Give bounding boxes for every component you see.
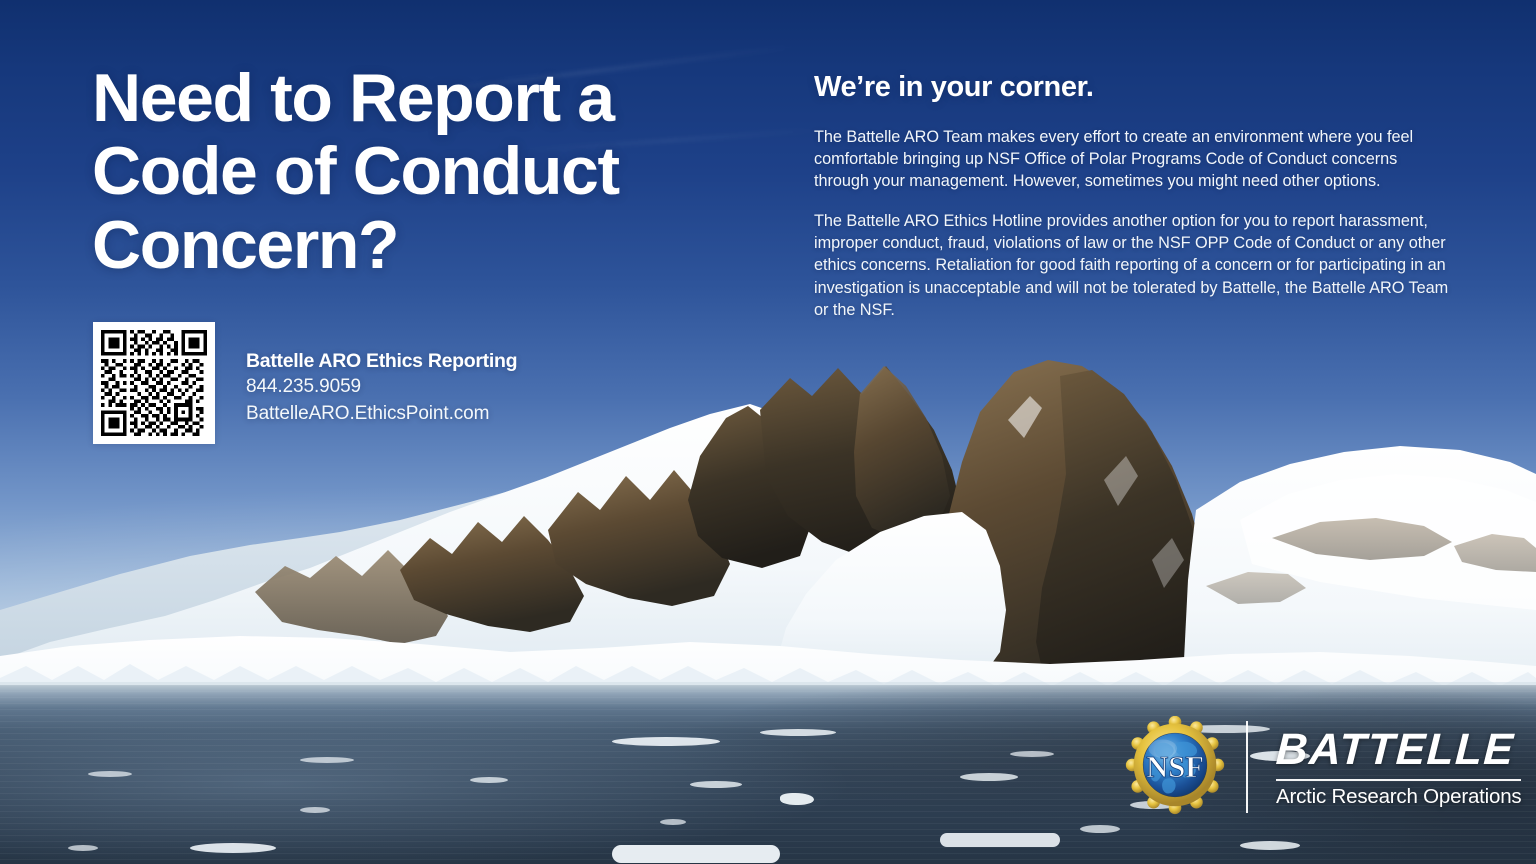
contact-phone[interactable]: 844.235.9059 — [246, 374, 517, 400]
ice-floe — [960, 773, 1018, 781]
ice-floe — [88, 771, 132, 777]
ice-floe — [1240, 841, 1300, 850]
ice-floe — [1010, 751, 1054, 757]
logo-divider — [1246, 721, 1248, 813]
ice-floe — [1080, 825, 1120, 833]
contact-block: Battelle ARO Ethics Reporting 844.235.90… — [93, 322, 517, 444]
battelle-rule — [1276, 779, 1521, 781]
contact-details: Battelle ARO Ethics Reporting 844.235.90… — [246, 322, 517, 427]
qr-code[interactable] — [93, 322, 215, 444]
ice-floe — [660, 819, 686, 825]
headline-line-3: Concern? — [92, 207, 398, 283]
ice-floe — [190, 843, 276, 853]
ice-floe — [760, 729, 836, 736]
nsf-logo-icon: NSF — [1124, 716, 1226, 818]
subheading: We’re in your corner. — [814, 70, 1454, 105]
ice-floe — [300, 757, 354, 763]
ice-floe — [612, 845, 780, 863]
battelle-wordmark: BATTELLE — [1275, 728, 1523, 772]
poster: Need to Report a Code of Conduct Concern… — [0, 0, 1536, 864]
paragraph-1: The Battelle ARO Team makes every effort… — [814, 126, 1454, 193]
headline-line-1: Need to Report a — [92, 60, 614, 136]
body-copy-column: We’re in your corner. The Battelle ARO T… — [814, 70, 1454, 321]
ice-floe — [300, 807, 330, 813]
ice-floe — [940, 833, 1060, 847]
contact-website[interactable]: BattelleARO.EthicsPoint.com — [246, 401, 517, 427]
ice-floe — [470, 777, 508, 783]
logo-lockup: NSF BATTELLE Arctic Research Operations — [1124, 716, 1521, 818]
headline-line-2: Code of Conduct — [92, 133, 619, 209]
ice-floe — [612, 737, 720, 746]
rock-spire — [854, 366, 950, 540]
ice-floe — [780, 793, 814, 805]
paragraph-2: The Battelle ARO Ethics Hotline provides… — [814, 210, 1454, 322]
battelle-logo: BATTELLE Arctic Research Operations — [1276, 726, 1521, 809]
contact-title: Battelle ARO Ethics Reporting — [246, 348, 517, 374]
battelle-tagline: Arctic Research Operations — [1276, 786, 1521, 809]
ice-floe — [68, 845, 98, 851]
page-title: Need to Report a Code of Conduct Concern… — [92, 62, 792, 282]
ice-floe — [690, 781, 742, 788]
